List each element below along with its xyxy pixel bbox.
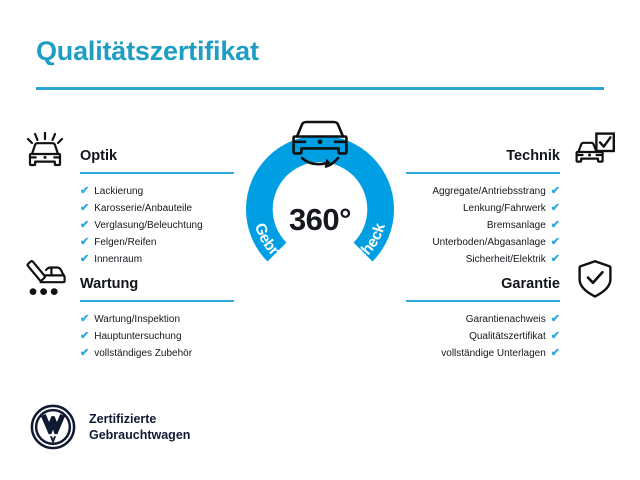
car-rotate-icon (282, 114, 358, 172)
list-item-label: Karosserie/Anbauteile (94, 200, 192, 217)
car-shine-icon (22, 130, 68, 172)
section-title-garantie: Garantie (501, 276, 560, 292)
list-item-label: Felgen/Reifen (94, 234, 156, 251)
footer-text: Zertifizierte Gebrauchtwagen (89, 411, 190, 443)
section-divider-optik (80, 172, 234, 175)
check-icon: ✔ (80, 186, 89, 197)
list-item: ✔vollständiges Zubehör (22, 345, 234, 362)
list-item-label: Lackierung (94, 183, 143, 200)
wrench-car-icon (22, 258, 68, 300)
check-icon: ✔ (551, 314, 560, 325)
checklist-optik: ✔Lackierung ✔Karosserie/Anbauteile ✔Verg… (22, 183, 234, 268)
section-title-optik: Optik (80, 148, 117, 164)
section-technik: Technik Aggregate/Antriebsstrang✔ Lenkun… (406, 130, 618, 268)
list-item: Unterboden/Abgasanlage✔ (406, 234, 618, 251)
checklist-garantie: Garantienachweis✔ Qualitätszertifikat✔ v… (406, 311, 618, 362)
list-item-label: Wartung/Inspektion (94, 311, 180, 328)
vw-footer: Zertifizierte Gebrauchtwagen (30, 404, 190, 450)
section-header-optik: Optik (22, 130, 234, 174)
list-item: ✔Felgen/Reifen (22, 234, 234, 251)
list-item-label: Garantienachweis (466, 311, 546, 328)
footer-line-1: Zertifizierte (89, 411, 190, 427)
footer-line-2: Gebrauchtwagen (89, 427, 190, 443)
list-item-label: Lenkung/Fahrwerk (463, 200, 546, 217)
check-icon: ✔ (551, 348, 560, 359)
360-check-badge: Gebrauchtwagen-Check 360° (229, 118, 411, 300)
list-item: ✔Hauptuntersuchung (22, 328, 234, 345)
check-icon: ✔ (551, 237, 560, 248)
quality-certificate-page: Qualitätszertifikat (0, 0, 640, 480)
list-item-label: vollständige Unterlagen (441, 345, 546, 362)
list-item: ✔Wartung/Inspektion (22, 311, 234, 328)
list-item-label: Hauptuntersuchung (94, 328, 181, 345)
section-optik: Optik ✔Lackierung ✔Karosserie/Anbauteile… (22, 130, 234, 268)
page-title: Qualitätszertifikat (36, 36, 259, 67)
section-title-wartung: Wartung (80, 276, 138, 292)
section-header-wartung: Wartung (22, 258, 234, 302)
section-divider-garantie (406, 300, 560, 303)
check-icon: ✔ (551, 203, 560, 214)
list-item: ✔Verglasung/Beleuchtung (22, 217, 234, 234)
list-item: Lenkung/Fahrwerk✔ (406, 200, 618, 217)
check-icon: ✔ (80, 220, 89, 231)
check-icon: ✔ (551, 331, 560, 342)
shield-check-icon (572, 258, 618, 300)
check-icon: ✔ (551, 186, 560, 197)
check-icon: ✔ (80, 348, 89, 359)
list-item-label: vollständiges Zubehör (94, 345, 192, 362)
check-icon: ✔ (80, 314, 89, 325)
badge-center-label: 360° (229, 202, 411, 238)
list-item-label: Aggregate/Antriebsstrang (432, 183, 545, 200)
list-item-label: Qualitätszertifikat (469, 328, 546, 345)
list-item: vollständige Unterlagen✔ (406, 345, 618, 362)
list-item: ✔Karosserie/Anbauteile (22, 200, 234, 217)
list-item: ✔Lackierung (22, 183, 234, 200)
list-item-label: Verglasung/Beleuchtung (94, 217, 202, 234)
check-icon: ✔ (80, 237, 89, 248)
list-item: Garantienachweis✔ (406, 311, 618, 328)
section-header-technik: Technik (406, 130, 618, 174)
section-wartung: Wartung ✔Wartung/Inspektion ✔Hauptunters… (22, 258, 234, 362)
checklist-wartung: ✔Wartung/Inspektion ✔Hauptuntersuchung ✔… (22, 311, 234, 362)
list-item: Qualitätszertifikat✔ (406, 328, 618, 345)
list-item: Aggregate/Antriebsstrang✔ (406, 183, 618, 200)
section-garantie: Garantie Garantienachweis✔ Qualitätszert… (406, 258, 618, 362)
section-divider-wartung (80, 300, 234, 303)
list-item: Bremsanlage✔ (406, 217, 618, 234)
car-checkbox-icon (572, 130, 618, 172)
check-icon: ✔ (80, 331, 89, 342)
list-item-label: Unterboden/Abgasanlage (432, 234, 545, 251)
section-header-garantie: Garantie (406, 258, 618, 302)
title-divider (36, 87, 604, 90)
section-title-technik: Technik (506, 148, 560, 164)
check-icon: ✔ (551, 220, 560, 231)
list-item-label: Bremsanlage (487, 217, 546, 234)
section-divider-technik (406, 172, 560, 175)
vw-logo (30, 404, 76, 450)
checklist-technik: Aggregate/Antriebsstrang✔ Lenkung/Fahrwe… (406, 183, 618, 268)
check-icon: ✔ (80, 203, 89, 214)
